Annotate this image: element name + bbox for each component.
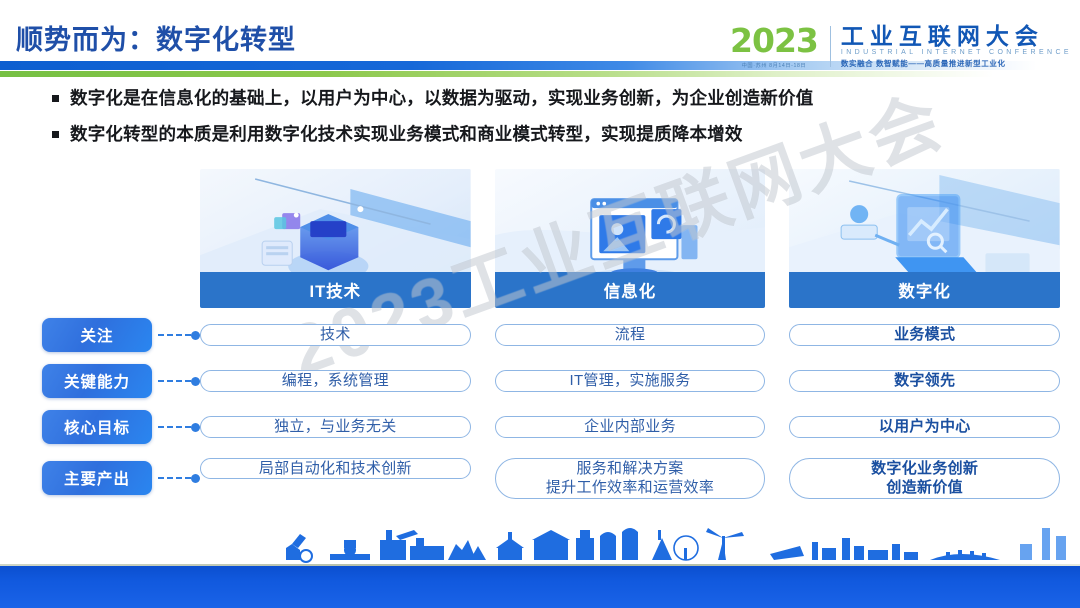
bullet-text: 数字化是在信息化的基础上，以用户为中心，以数据为驱动，实现业务创新，为企业创造新… bbox=[70, 86, 813, 111]
matrix-row-capability: 关键能力 编程，系统管理 IT管理，实施服务 数字领先 bbox=[0, 362, 1080, 400]
row-label-text: 关键能力 bbox=[64, 370, 130, 392]
card-it: IT技术 bbox=[200, 169, 471, 308]
logo-name-en: INDUSTRIAL INTERNET CONFERENCE bbox=[841, 49, 1072, 56]
row-cells: 独立，与业务无关 企业内部业务 以用户为中心 bbox=[200, 416, 1060, 438]
slide-root: 顺势而为：数字化转型 2023 中国·苏州 8月14日-18日 工业互联网大会 … bbox=[0, 0, 1080, 608]
logo-name-cn: 工业互联网大会 bbox=[841, 24, 1072, 48]
cell-text: 局部自动化和技术创新 bbox=[259, 459, 412, 479]
cell-it[interactable]: 独立，与业务无关 bbox=[200, 416, 471, 438]
city-industry-silhouette-icon bbox=[0, 526, 1080, 566]
matrix-row-focus: 关注 技术 流程 业务模式 bbox=[0, 316, 1080, 354]
cell-text: 数字领先 bbox=[894, 371, 955, 391]
card-digital: 数字化 bbox=[789, 169, 1060, 308]
card-caption-it: IT技术 bbox=[200, 272, 471, 308]
row-label-goal: 核心目标 bbox=[42, 410, 152, 444]
cell-info[interactable]: IT管理，实施服务 bbox=[495, 370, 766, 392]
card-caption-info: 信息化 bbox=[495, 272, 766, 308]
cell-text: 数字化业务创新创造新价值 bbox=[871, 459, 978, 498]
bullet-item: 数字化是在信息化的基础上，以用户为中心，以数据为驱动，实现业务创新，为企业创造新… bbox=[52, 86, 1062, 111]
row-label-text: 关注 bbox=[80, 324, 113, 346]
cell-text: 编程，系统管理 bbox=[282, 371, 389, 391]
bullet-square-icon bbox=[52, 131, 59, 138]
sea-band bbox=[0, 566, 1080, 608]
row-cells: 技术 流程 业务模式 bbox=[200, 324, 1060, 346]
card-info: 信息化 bbox=[495, 169, 766, 308]
logo-date-text: 中国·苏州 8月14日-18日 bbox=[732, 61, 815, 69]
connector-dot bbox=[191, 474, 200, 483]
cell-it[interactable]: 编程，系统管理 bbox=[200, 370, 471, 392]
bullet-text: 数字化转型的本质是利用数字化技术实现业务模式和商业模式转型，实现提质降本增效 bbox=[70, 122, 743, 147]
connector-dot bbox=[191, 331, 200, 340]
connector-dash bbox=[158, 477, 191, 479]
cell-digital[interactable]: 数字领先 bbox=[789, 370, 1060, 392]
card-caption-digital: 数字化 bbox=[789, 272, 1060, 308]
logo-tagline: 数实融合 数智赋能——高质量推进新型工业化 bbox=[841, 58, 1072, 69]
cell-info[interactable]: 服务和解决方案提升工作效率和运营效率 bbox=[495, 458, 766, 499]
cell-text: 技术 bbox=[320, 325, 351, 345]
row-cells: 局部自动化和技术创新 服务和解决方案提升工作效率和运营效率 数字化业务创新创造新… bbox=[200, 458, 1060, 499]
connector bbox=[152, 423, 200, 432]
page-title: 顺势而为：数字化转型 bbox=[16, 18, 296, 57]
bullet-square-icon bbox=[52, 95, 59, 102]
connector-dash bbox=[158, 380, 191, 382]
row-label-focus: 关注 bbox=[42, 318, 152, 352]
header-green-rule bbox=[0, 71, 1080, 77]
cell-digital[interactable]: 业务模式 bbox=[789, 324, 1060, 346]
logo-divider bbox=[830, 26, 831, 67]
cell-it[interactable]: 技术 bbox=[200, 324, 471, 346]
connector bbox=[152, 331, 200, 340]
row-label-text: 核心目标 bbox=[64, 416, 130, 438]
logo-name-block: 工业互联网大会 INDUSTRIAL INTERNET CONFERENCE 数… bbox=[841, 24, 1072, 69]
cell-text: 业务模式 bbox=[894, 325, 955, 345]
card-row: IT技术 bbox=[200, 169, 1060, 308]
card-caption-text: IT技术 bbox=[310, 278, 362, 302]
cell-text: 流程 bbox=[615, 325, 646, 345]
footer-skyline bbox=[0, 536, 1080, 608]
cell-info[interactable]: 企业内部业务 bbox=[495, 416, 766, 438]
comparison-matrix: 关注 技术 流程 业务模式 关键能力 编程，系统管理 IT管理，实施服务 数字领… bbox=[0, 316, 1080, 510]
logo-year-text: 2023 bbox=[730, 24, 818, 57]
card-caption-text: 数字化 bbox=[898, 278, 951, 302]
bullet-item: 数字化转型的本质是利用数字化技术实现业务模式和商业模式转型，实现提质降本增效 bbox=[52, 122, 1062, 147]
cell-it[interactable]: 局部自动化和技术创新 bbox=[200, 458, 471, 480]
card-caption-text: 信息化 bbox=[604, 278, 657, 302]
row-cells: 编程，系统管理 IT管理，实施服务 数字领先 bbox=[200, 370, 1060, 392]
logo-year-block: 2023 中国·苏州 8月14日-18日 bbox=[730, 24, 830, 69]
matrix-row-output: 主要产出 局部自动化和技术创新 服务和解决方案提升工作效率和运营效率 数字化业务… bbox=[0, 454, 1080, 502]
row-label-output: 主要产出 bbox=[42, 461, 152, 495]
cell-text: 服务和解决方案提升工作效率和运营效率 bbox=[546, 459, 714, 498]
conference-logo: 2023 中国·苏州 8月14日-18日 工业互联网大会 INDUSTRIAL … bbox=[730, 24, 1072, 69]
cell-digital[interactable]: 以用户为中心 bbox=[789, 416, 1060, 438]
cell-text: IT管理，实施服务 bbox=[569, 371, 690, 391]
matrix-row-goal: 核心目标 独立，与业务无关 企业内部业务 以用户为中心 bbox=[0, 408, 1080, 446]
cell-text: 独立，与业务无关 bbox=[274, 417, 396, 437]
row-label-text: 主要产出 bbox=[64, 467, 130, 489]
cell-text: 企业内部业务 bbox=[584, 417, 676, 437]
connector bbox=[152, 377, 200, 386]
cell-digital[interactable]: 数字化业务创新创造新价值 bbox=[789, 458, 1060, 499]
connector-dot bbox=[191, 423, 200, 432]
row-label-capability: 关键能力 bbox=[42, 364, 152, 398]
connector-dash bbox=[158, 334, 191, 336]
connector-dash bbox=[158, 426, 191, 428]
cell-info[interactable]: 流程 bbox=[495, 324, 766, 346]
bullet-list: 数字化是在信息化的基础上，以用户为中心，以数据为驱动，实现业务创新，为企业创造新… bbox=[52, 86, 1062, 159]
cell-text: 以用户为中心 bbox=[879, 417, 971, 437]
connector-dot bbox=[191, 377, 200, 386]
connector bbox=[152, 474, 200, 483]
